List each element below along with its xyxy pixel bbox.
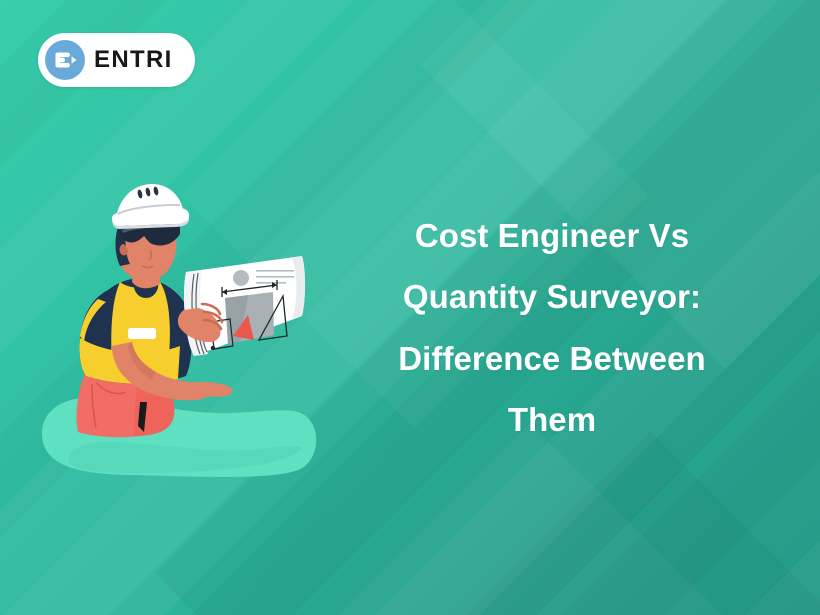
background-diamond-shape-4 xyxy=(466,431,820,615)
title-line-4: Them xyxy=(352,389,752,450)
background-diamond-shape-3 xyxy=(318,423,742,615)
page-title: Cost Engineer Vs Quantity Surveyor: Diff… xyxy=(352,205,752,451)
title-line-3: Difference Between xyxy=(352,328,752,389)
entri-e-play-icon xyxy=(45,40,85,80)
blueprint-stamp xyxy=(233,270,249,286)
construction-worker-illustration xyxy=(34,170,354,490)
vest-id-badge xyxy=(128,328,156,339)
title-line-1: Cost Engineer Vs xyxy=(352,205,752,266)
entri-logo[interactable]: ENTRI xyxy=(38,33,195,87)
cover-canvas: ENTRI Cost Engineer Vs Quantity Surveyor… xyxy=(0,0,820,615)
title-line-2: Quantity Surveyor: xyxy=(352,266,752,327)
entri-wordmark: ENTRI xyxy=(94,48,173,72)
